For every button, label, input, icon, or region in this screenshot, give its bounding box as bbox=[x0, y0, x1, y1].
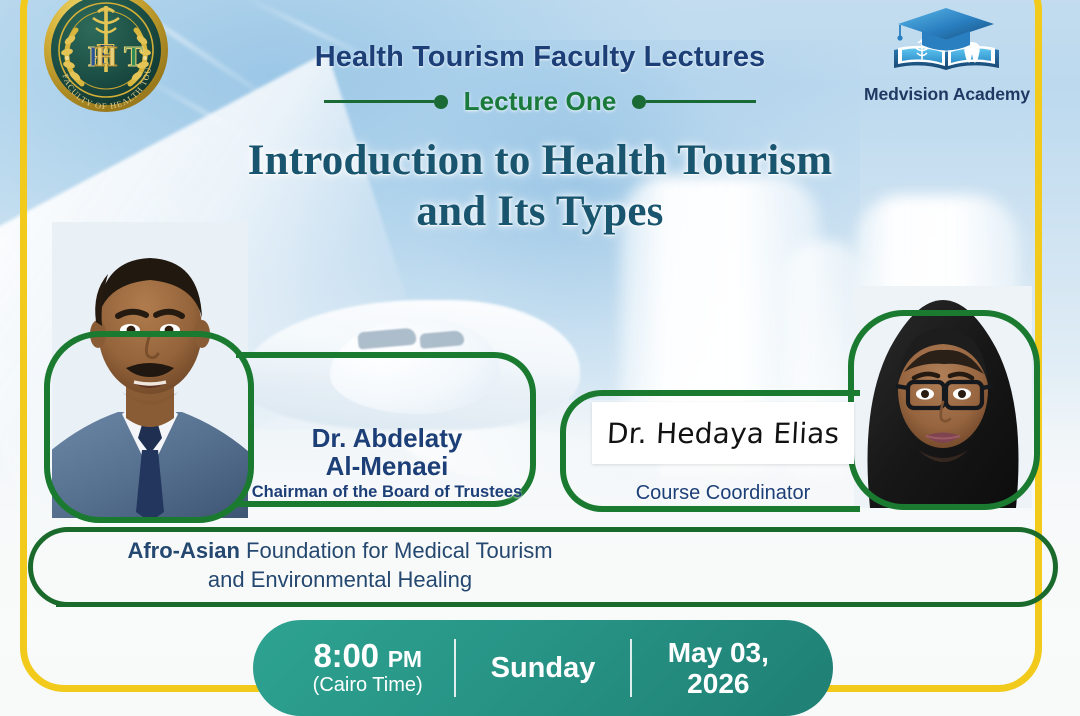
speaker-right-name-card: Dr. Hedaya Elias bbox=[592, 402, 854, 464]
lecture-badge-row: Lecture One bbox=[0, 86, 1080, 117]
divider-line-left bbox=[324, 100, 434, 103]
speaker-left-name-line-2: Al-Menaei bbox=[236, 452, 538, 480]
event-time: 8:00 PM bbox=[281, 639, 454, 674]
organization-line-1: Afro-Asian Foundation for Medical Touris… bbox=[60, 536, 620, 565]
speaker-left-name-line-1: Dr. Abdelaty bbox=[236, 424, 538, 452]
event-day: Sunday bbox=[456, 653, 629, 684]
lecture-announcement-flyer: F FHT F H T FACULTY OF HEALTH TOURISM bbox=[0, 0, 1080, 716]
event-date-line-1: May 03, bbox=[632, 637, 805, 668]
organization-frame-accent-left bbox=[56, 602, 256, 607]
organization-frame-accent-right bbox=[820, 602, 1020, 607]
lecture-number-label: Lecture One bbox=[464, 86, 617, 117]
event-time-ampm: PM bbox=[388, 646, 422, 672]
page-title-line-1: Introduction to Health Tourism bbox=[0, 136, 1080, 187]
event-timezone: (Cairo Time) bbox=[281, 675, 454, 696]
divider-line-right bbox=[646, 100, 756, 103]
event-time-block: 8:00 PM (Cairo Time) bbox=[281, 639, 454, 696]
speaker-left-role: Chairman of the Board of Trustees bbox=[236, 484, 538, 502]
organization-name: Afro-Asian Foundation for Medical Touris… bbox=[60, 536, 620, 594]
organization-bold-part: Afro-Asian bbox=[127, 538, 239, 563]
event-details-banner: 8:00 PM (Cairo Time) Sunday May 03, 2026 bbox=[253, 620, 833, 716]
event-date-line-2: 2026 bbox=[632, 668, 805, 699]
speaker-left-info: Dr. Abdelaty Al-Menaei Chairman of the B… bbox=[236, 424, 538, 502]
speaker-left-photo-frame bbox=[44, 331, 254, 523]
event-time-value: 8:00 bbox=[314, 637, 379, 674]
speaker-right-role: Course Coordinator bbox=[592, 482, 854, 505]
divider-dot-right-icon bbox=[632, 95, 646, 109]
speaker-right-name: Dr. Hedaya Elias bbox=[606, 417, 840, 450]
speaker-right-photo-frame bbox=[848, 310, 1040, 510]
divider-dot-left-icon bbox=[434, 95, 448, 109]
event-date-block: May 03, 2026 bbox=[632, 637, 805, 700]
organization-rest-line-1: Foundation for Medical Tourism bbox=[240, 538, 553, 563]
event-day-block: Sunday bbox=[456, 653, 629, 684]
flyer-kicker-title: Health Tourism Faculty Lectures bbox=[0, 41, 1080, 74]
organization-line-2: and Environmental Healing bbox=[60, 565, 620, 594]
